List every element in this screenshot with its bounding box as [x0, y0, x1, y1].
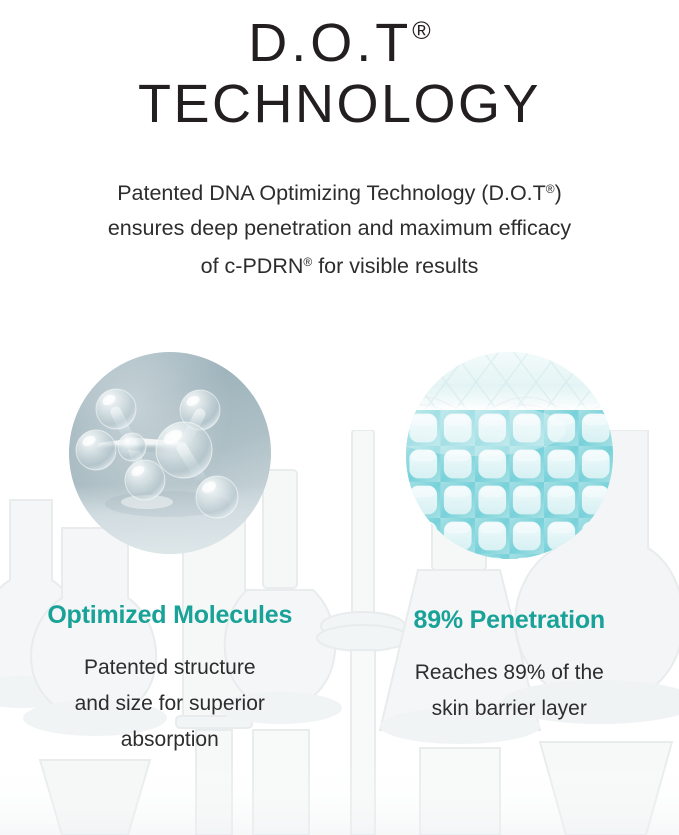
- feature-title-optimized-molecules: Optimized Molecules: [47, 600, 292, 630]
- feature-description-penetration: Reaches 89% of the skin barrier layer: [415, 655, 604, 727]
- feature-column-penetration: 89% Penetration Reaches 89% of the skin …: [340, 352, 679, 758]
- feature-desc-line-3: absorption: [75, 722, 265, 758]
- intro-paragraph: Patented DNA Optimizing Technology (D.O.…: [40, 172, 639, 284]
- intro-line-1-text-b: ): [555, 181, 562, 205]
- skin-barrier-penetration-image: [406, 352, 613, 559]
- feature-column-optimized-molecules: Optimized Molecules Patented structure a…: [0, 352, 340, 758]
- intro-line-3-text-b: for visible results: [312, 254, 478, 278]
- molecule-illustration: [69, 352, 271, 554]
- feature-title-penetration: 89% Penetration: [413, 605, 605, 635]
- intro-line-3: of c-PDRN® for visible results: [40, 245, 639, 284]
- lattice-grid-pattern: [406, 410, 613, 559]
- intro-line-2: ensures deep penetration and maximum eff…: [40, 211, 639, 246]
- feature-desc-line-2: skin barrier layer: [415, 691, 604, 727]
- feature-desc-line-2: and size for superior: [75, 686, 265, 722]
- intro-line-1: Patented DNA Optimizing Technology (D.O.…: [40, 172, 639, 211]
- feature-description-optimized-molecules: Patented structure and size for superior…: [75, 650, 265, 758]
- page-title-line-1-text: D.O.T: [248, 13, 412, 73]
- optimized-molecules-image: [69, 352, 271, 554]
- page-title: D.O.T® TECHNOLOGY: [0, 0, 679, 134]
- page-title-line-2: TECHNOLOGY: [0, 74, 679, 134]
- registered-trademark-icon: ®: [303, 255, 312, 269]
- feature-desc-line-1: Patented structure: [75, 650, 265, 686]
- intro-line-3-text-a: of c-PDRN: [201, 254, 304, 278]
- feature-columns: Optimized Molecules Patented structure a…: [0, 352, 679, 758]
- dot-technology-infographic: D.O.T® TECHNOLOGY Patented DNA Optimizin…: [0, 0, 679, 835]
- feature-desc-line-1: Reaches 89% of the: [415, 655, 604, 691]
- page-title-line-1: D.O.T®: [0, 0, 679, 74]
- registered-trademark-icon: ®: [412, 17, 430, 45]
- intro-line-1-text-a: Patented DNA Optimizing Technology (D.O.…: [117, 181, 546, 205]
- registered-trademark-icon: ®: [546, 182, 555, 196]
